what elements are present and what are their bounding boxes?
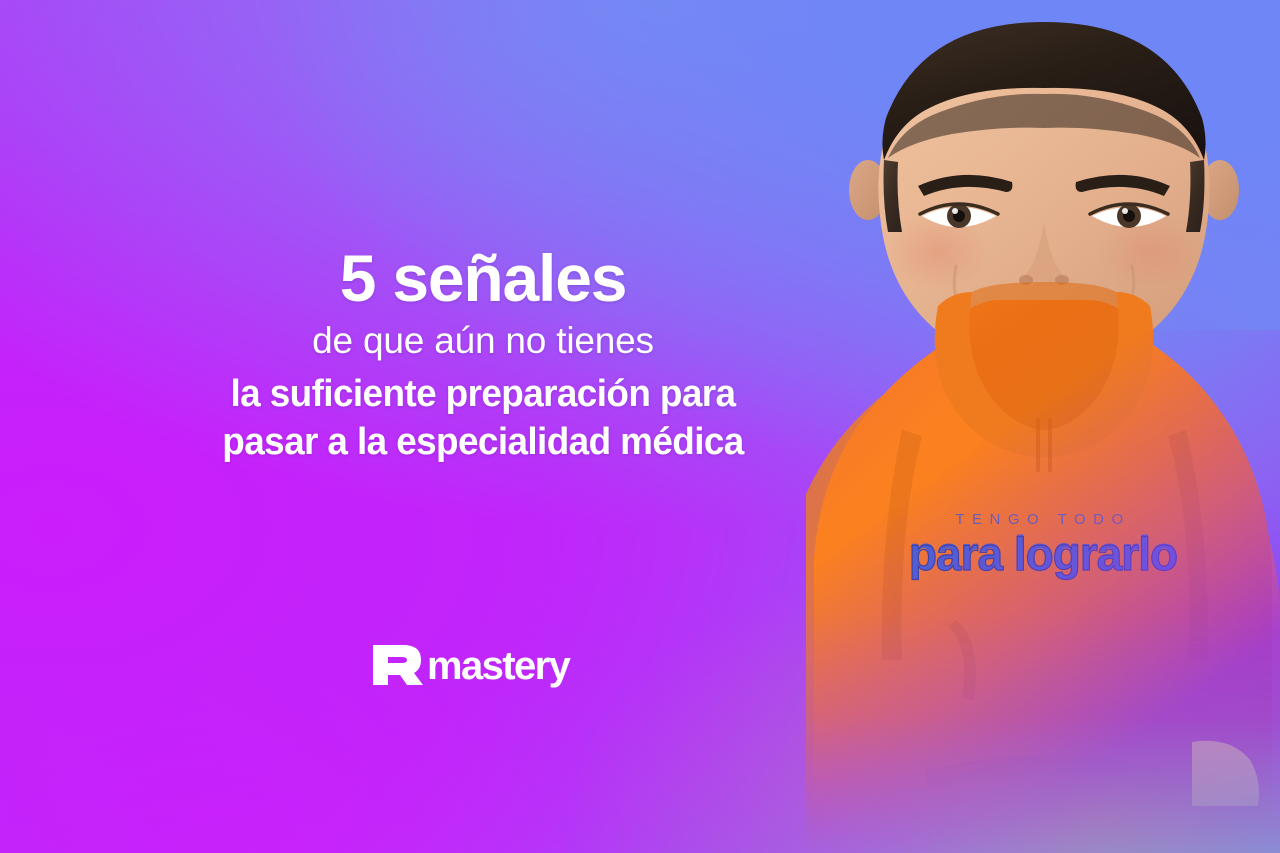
headline-line-2: de que aún no tienes: [0, 319, 966, 363]
rmastery-r-mark: [373, 645, 423, 685]
rmastery-wordmark: mastery: [427, 644, 572, 688]
headline-line-3: la suficiente preparación para: [14, 371, 951, 419]
headline-block: 5 señales de que aún no tienes la sufici…: [0, 246, 966, 466]
promo-banner: TENGO TODO para lograrlo para lograrlo 5…: [0, 0, 1280, 853]
rmastery-logo[interactable]: mastery: [371, 639, 593, 691]
headline-line-4: pasar a la especialidad médica: [14, 419, 951, 467]
headline-line-1: 5 señales: [0, 246, 966, 311]
